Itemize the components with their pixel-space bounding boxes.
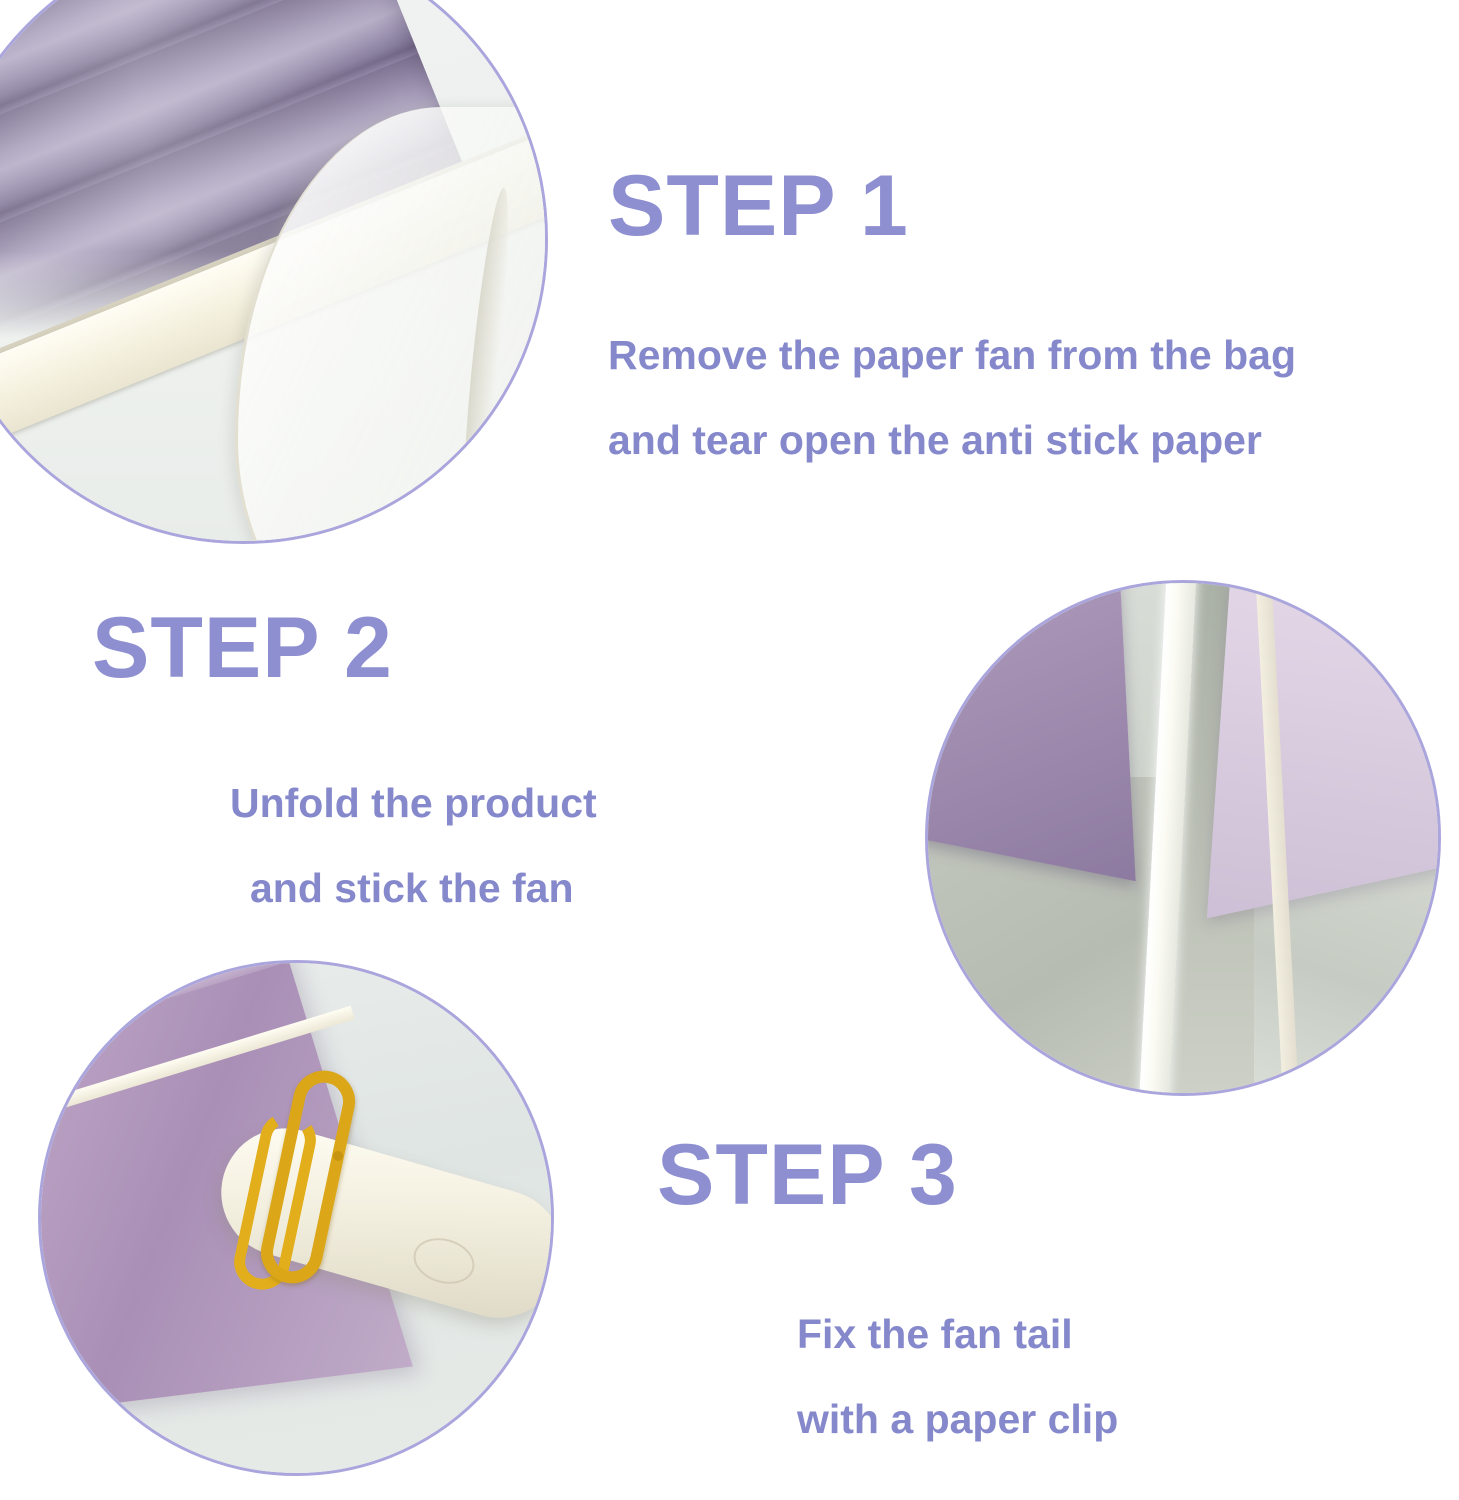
step-2-text-block: STEP 2 Unfold the product and stick the … — [92, 605, 597, 909]
step-3-photo-inner — [41, 963, 551, 1473]
step-2-photo-unfolded-fan — [925, 580, 1441, 1096]
step-1-title: STEP 1 — [608, 163, 1296, 249]
step-3-text-block: STEP 3 Fix the fan tail with a paper cli… — [657, 1132, 1118, 1440]
step-1-text-block: STEP 1 Remove the paper fan from the bag… — [608, 163, 1296, 461]
step-3-line-2: with a paper clip — [797, 1399, 1118, 1440]
step-2-title: STEP 2 — [92, 605, 597, 691]
step-3-photo-paper-clip — [38, 960, 554, 1476]
paper-clip-highlight-dot — [333, 1151, 343, 1161]
step-3-line-1: Fix the fan tail — [797, 1314, 1118, 1355]
step-1-photo-pleated-fan — [0, 0, 548, 544]
step-1-line-2: and tear open the anti stick paper — [608, 420, 1296, 461]
step-2-line-2: and stick the fan — [250, 868, 597, 909]
step-1-line-1: Remove the paper fan from the bag — [608, 335, 1296, 376]
step-2-line-1: Unfold the product — [230, 783, 597, 824]
step-3-title: STEP 3 — [657, 1132, 1118, 1218]
step-2-photo-inner — [928, 583, 1438, 1093]
fan-panel-purple-left — [928, 583, 1136, 881]
step-1-photo-inner — [0, 0, 545, 541]
infographic-canvas: STEP 1 Remove the paper fan from the bag… — [0, 0, 1459, 1500]
fan-panel-lilac-right — [1207, 583, 1438, 918]
